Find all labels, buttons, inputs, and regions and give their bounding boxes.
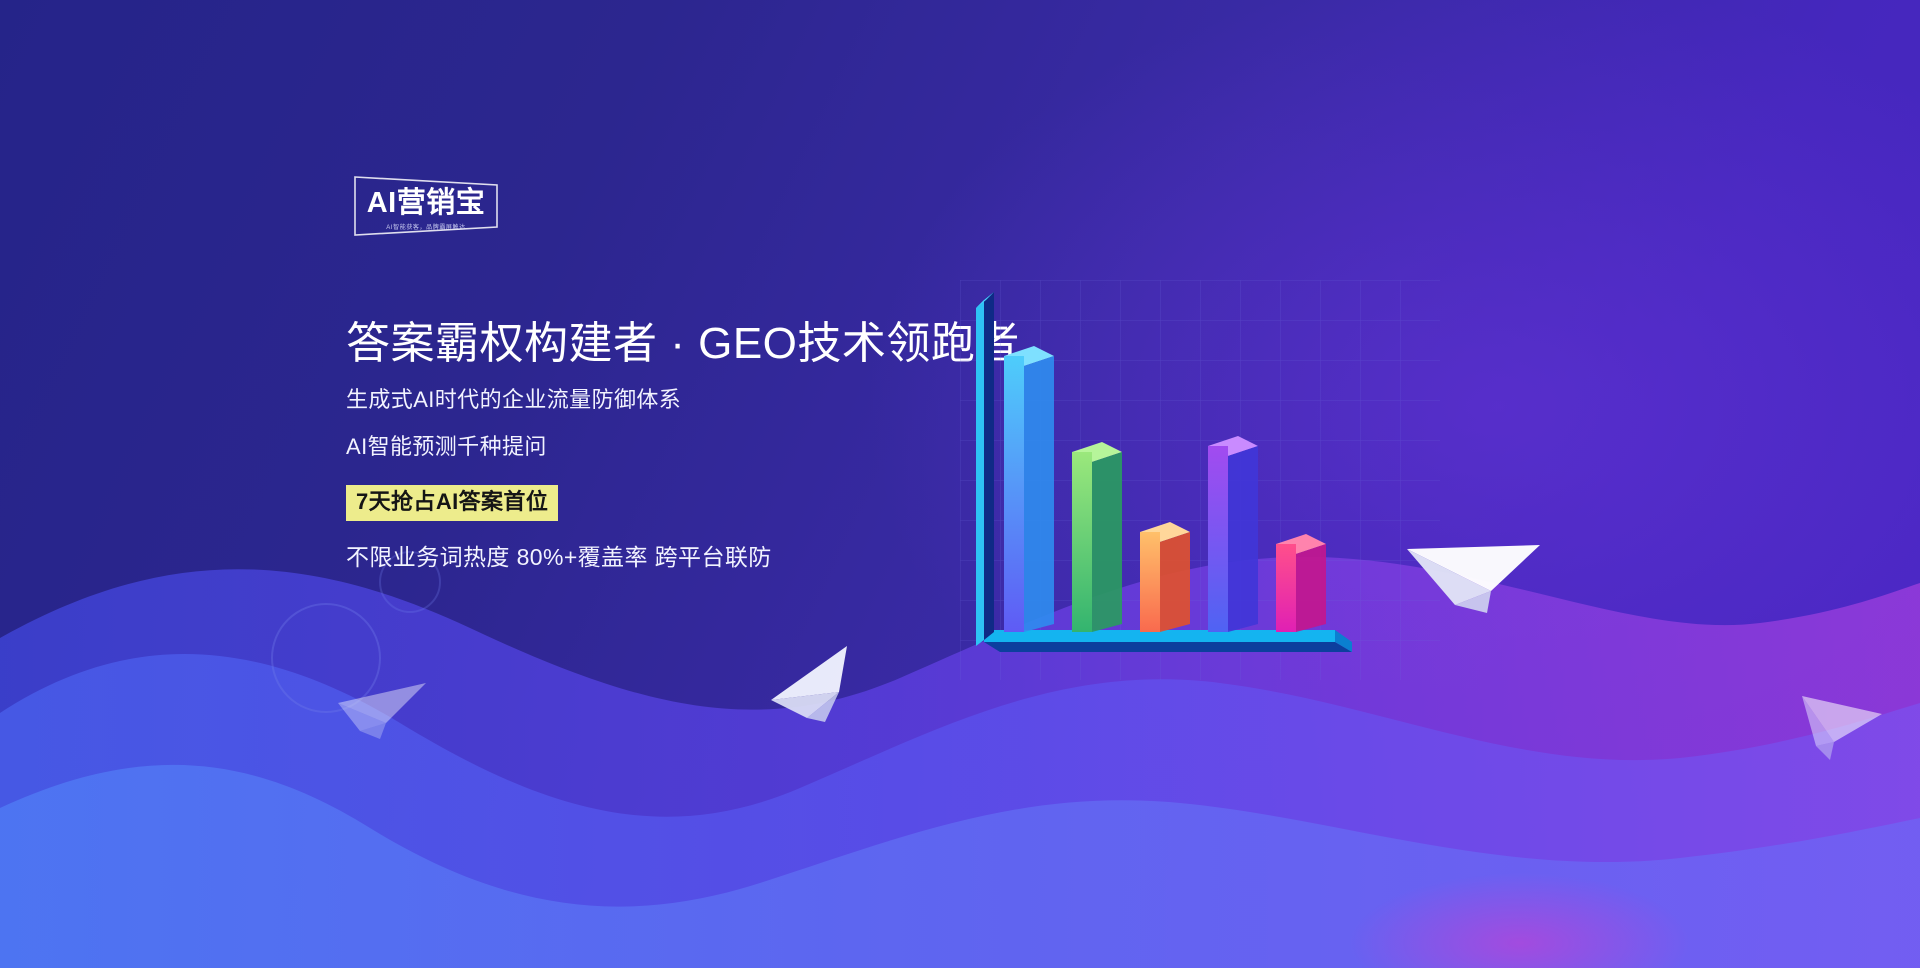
logo-tagline: AI智能获客，品牌霸屏触达 [386,222,465,231]
bar-chart [960,280,1440,680]
hero-highlight-wrap: 7天抢占AI答案首位 [346,485,1066,521]
chart-bar-5 [1276,534,1326,632]
chart-bar-1 [1004,346,1054,632]
hero-subline-2: AI智能预测千种提问 [346,433,1066,461]
hero-highlight-badge: 7天抢占AI答案首位 [346,485,558,521]
page-title: 答案霸权构建者 · GEO技术领跑者 [346,318,1066,370]
hero-banner: AI营销宝 AI智能获客，品牌霸屏触达 答案霸权构建者 · GEO技术领跑者 生… [0,0,1920,968]
hero-subline-3: 不限业务词热度 80%+覆盖率 跨平台联防 [346,543,1066,572]
chart-y-axis [976,292,994,646]
chart-base [984,630,1352,652]
paper-plane-icon [330,665,450,755]
chart-bar-2 [1072,442,1122,632]
brand-logo[interactable]: AI营销宝 AI智能获客，品牌霸屏触达 [352,172,500,240]
chart-bar-4 [1208,436,1258,632]
chart-bar-3 [1140,522,1190,632]
hero-copy: 答案霸权构建者 · GEO技术领跑者 生成式AI时代的企业流量防御体系 AI智能… [346,318,1066,572]
paper-plane-icon [1790,680,1900,770]
logo-text: AI营销宝 [367,189,486,218]
hero-subline-1: 生成式AI时代的企业流量防御体系 [346,386,1066,414]
paper-plane-icon [765,630,895,735]
paper-plane-icon [1395,505,1545,625]
